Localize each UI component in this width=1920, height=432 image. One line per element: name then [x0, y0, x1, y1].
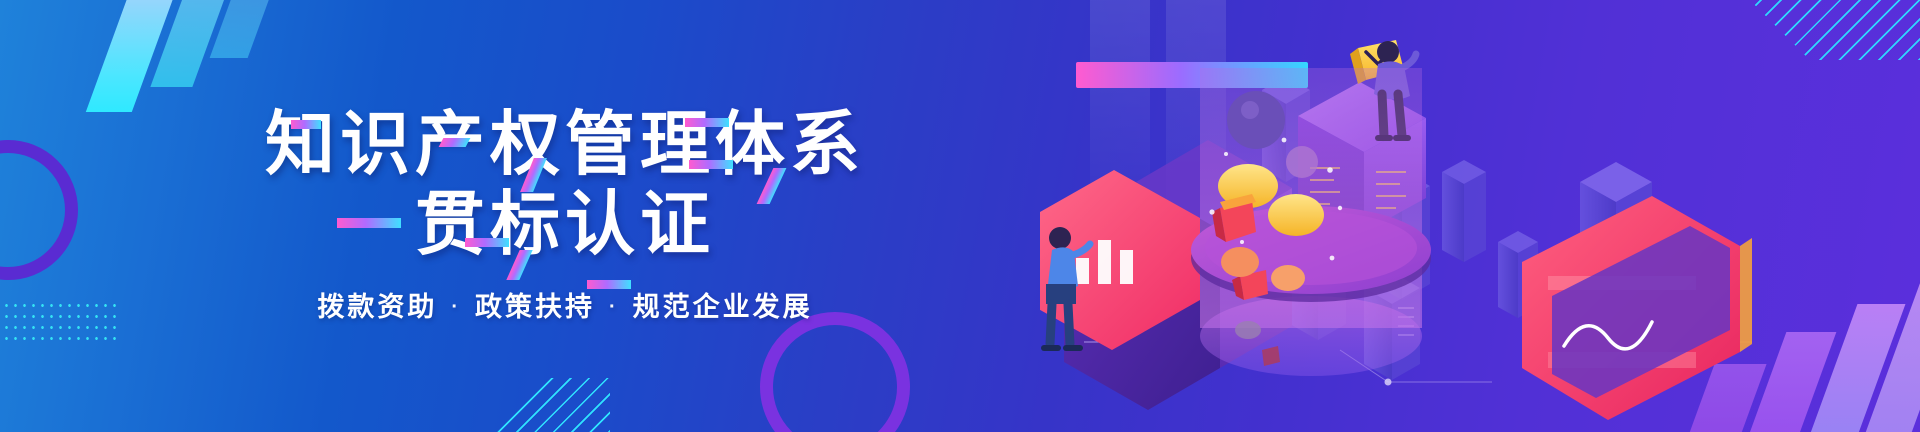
subtitle-item-3: 规范企业发展: [633, 290, 813, 324]
coin-cylinder: [1191, 68, 1431, 376]
title-line-2: 贯标认证: [265, 188, 865, 260]
banner-title: 知识产权管理体系 贯标认证: [265, 108, 865, 260]
subtitle-separator: ·: [451, 290, 461, 324]
banner-copy: 知识产权管理体系 贯标认证 拨款资助 · 政策扶持 · 规范企业发展: [0, 0, 1130, 432]
title-line-1: 知识产权管理体系: [265, 108, 865, 180]
isometric-illustration: [1040, 0, 1920, 432]
accent-chip: [587, 280, 631, 289]
subtitle-separator: ·: [609, 290, 619, 324]
banner-subtitle: 拨款资助 · 政策扶持 · 规范企业发展: [317, 290, 812, 324]
promo-banner: 知识产权管理体系 贯标认证 拨款资助 · 政策扶持 · 规范企业发展: [0, 0, 1920, 432]
subtitle-item-2: 政策扶持: [475, 290, 595, 324]
wave-chart-card: [1522, 196, 1752, 420]
subtitle-item-1: 拨款资助: [317, 290, 437, 324]
